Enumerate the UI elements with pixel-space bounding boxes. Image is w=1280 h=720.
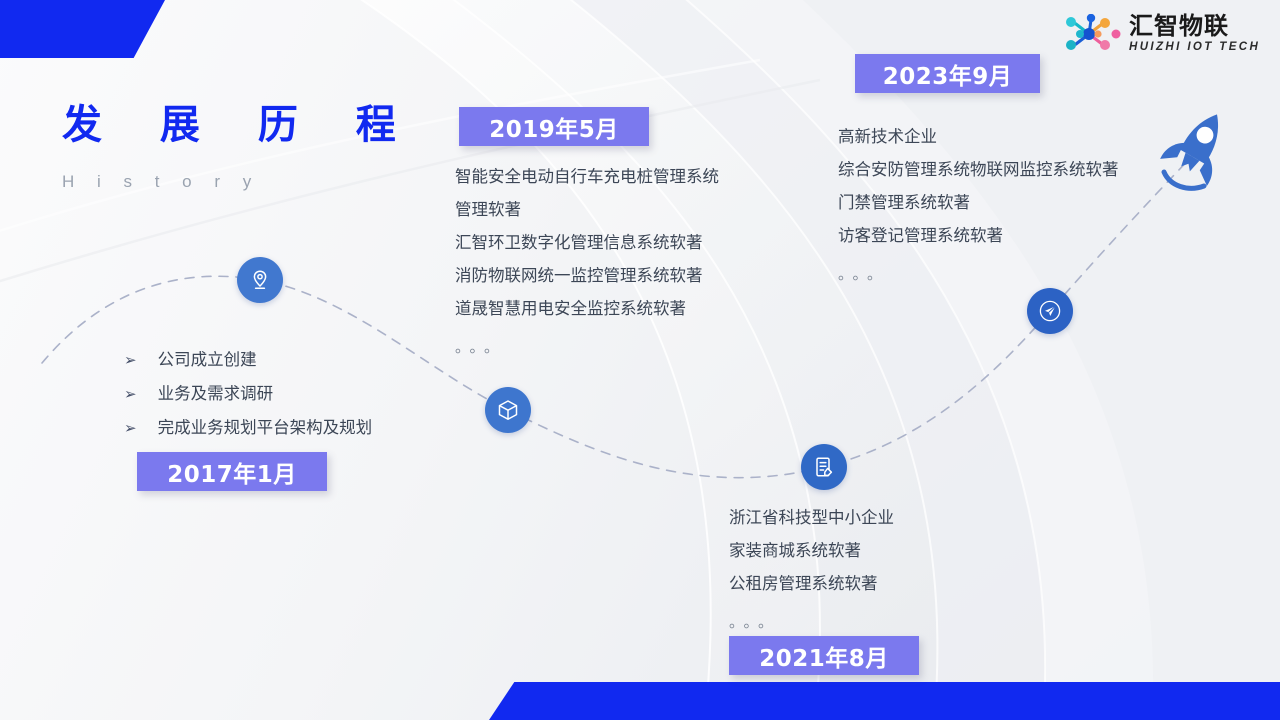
list-item: ➢ 业务及需求调研 (124, 377, 372, 411)
ellipsis-marker: 。。。 (455, 331, 719, 364)
bullet-arrow-icon: ➢ (124, 412, 137, 445)
page-title-en: H i s t o r y (62, 172, 418, 192)
milestone-2017-items: ➢ 公司成立创建 ➢ 业务及需求调研 ➢ 完成业务规划平台架构及规划 (124, 343, 372, 445)
page-title: 发 展 历 程 H i s t o r y (62, 92, 418, 192)
list-item: 管理软著 (455, 193, 719, 226)
timeline-node-2017[interactable] (237, 257, 283, 303)
corner-accent-bottom-right (489, 682, 1280, 720)
list-item: 智能安全电动自行车充电桩管理系统 (455, 160, 719, 193)
list-item: 综合安防管理系统物联网监控系统软著 (838, 153, 1119, 186)
list-item: ➢ 公司成立创建 (124, 343, 372, 377)
list-item: 消防物联网统一监控管理系统软著 (455, 259, 719, 292)
location-pin-icon (248, 268, 272, 292)
list-item: 道晟智慧用电安全监控系统软著 (455, 292, 719, 325)
rocket-icon (1158, 106, 1236, 192)
bullet-arrow-icon: ➢ (124, 378, 137, 411)
milestone-badge-2021[interactable]: 2021年8月 (729, 636, 919, 675)
list-item: 浙江省科技型中小企业 (729, 501, 894, 534)
send-plane-icon (1037, 298, 1063, 324)
milestone-badge-2017[interactable]: 2017年1月 (137, 452, 327, 491)
timeline-node-2019[interactable] (485, 387, 531, 433)
page-title-cn: 发 展 历 程 (62, 92, 418, 150)
milestone-2019-items: 智能安全电动自行车充电桩管理系统 管理软著 汇智环卫数字化管理信息系统软著 消防… (455, 160, 719, 364)
logo-company-name-en: HUIZHI IOT TECH (1129, 42, 1260, 54)
milestone-2023-items: 高新技术企业 综合安防管理系统物联网监控系统软著 门禁管理系统软著 访客登记管理… (838, 120, 1119, 291)
slide-canvas: 汇智物联 HUIZHI IOT TECH 发 展 历 程 H i s t o r… (0, 0, 1280, 720)
list-item: 公租房管理系统软著 (729, 567, 894, 600)
timeline-node-2021[interactable] (801, 444, 847, 490)
company-logo: 汇智物联 HUIZHI IOT TECH (1064, 8, 1270, 60)
milestone-2021-items: 浙江省科技型中小企业 家装商城系统软著 公租房管理系统软著 。。。 (729, 501, 894, 639)
bullet-arrow-icon: ➢ (124, 344, 137, 377)
logo-company-name-cn: 汇智物联 (1129, 14, 1260, 38)
ellipsis-marker: 。。。 (838, 258, 1119, 291)
molecule-network-icon (1064, 14, 1122, 54)
milestone-badge-2019[interactable]: 2019年5月 (459, 107, 649, 146)
ellipsis-marker: 。。。 (729, 606, 894, 639)
cube-icon (496, 398, 520, 422)
list-item: 访客登记管理系统软著 (838, 219, 1119, 252)
timeline-node-2023[interactable] (1027, 288, 1073, 334)
list-item: ➢ 完成业务规划平台架构及规划 (124, 411, 372, 445)
milestone-badge-2023[interactable]: 2023年9月 (855, 54, 1040, 93)
list-item: 门禁管理系统软著 (838, 186, 1119, 219)
list-item: 汇智环卫数字化管理信息系统软著 (455, 226, 719, 259)
list-item: 家装商城系统软著 (729, 534, 894, 567)
document-edit-icon (812, 455, 836, 479)
list-item: 高新技术企业 (838, 120, 1119, 153)
